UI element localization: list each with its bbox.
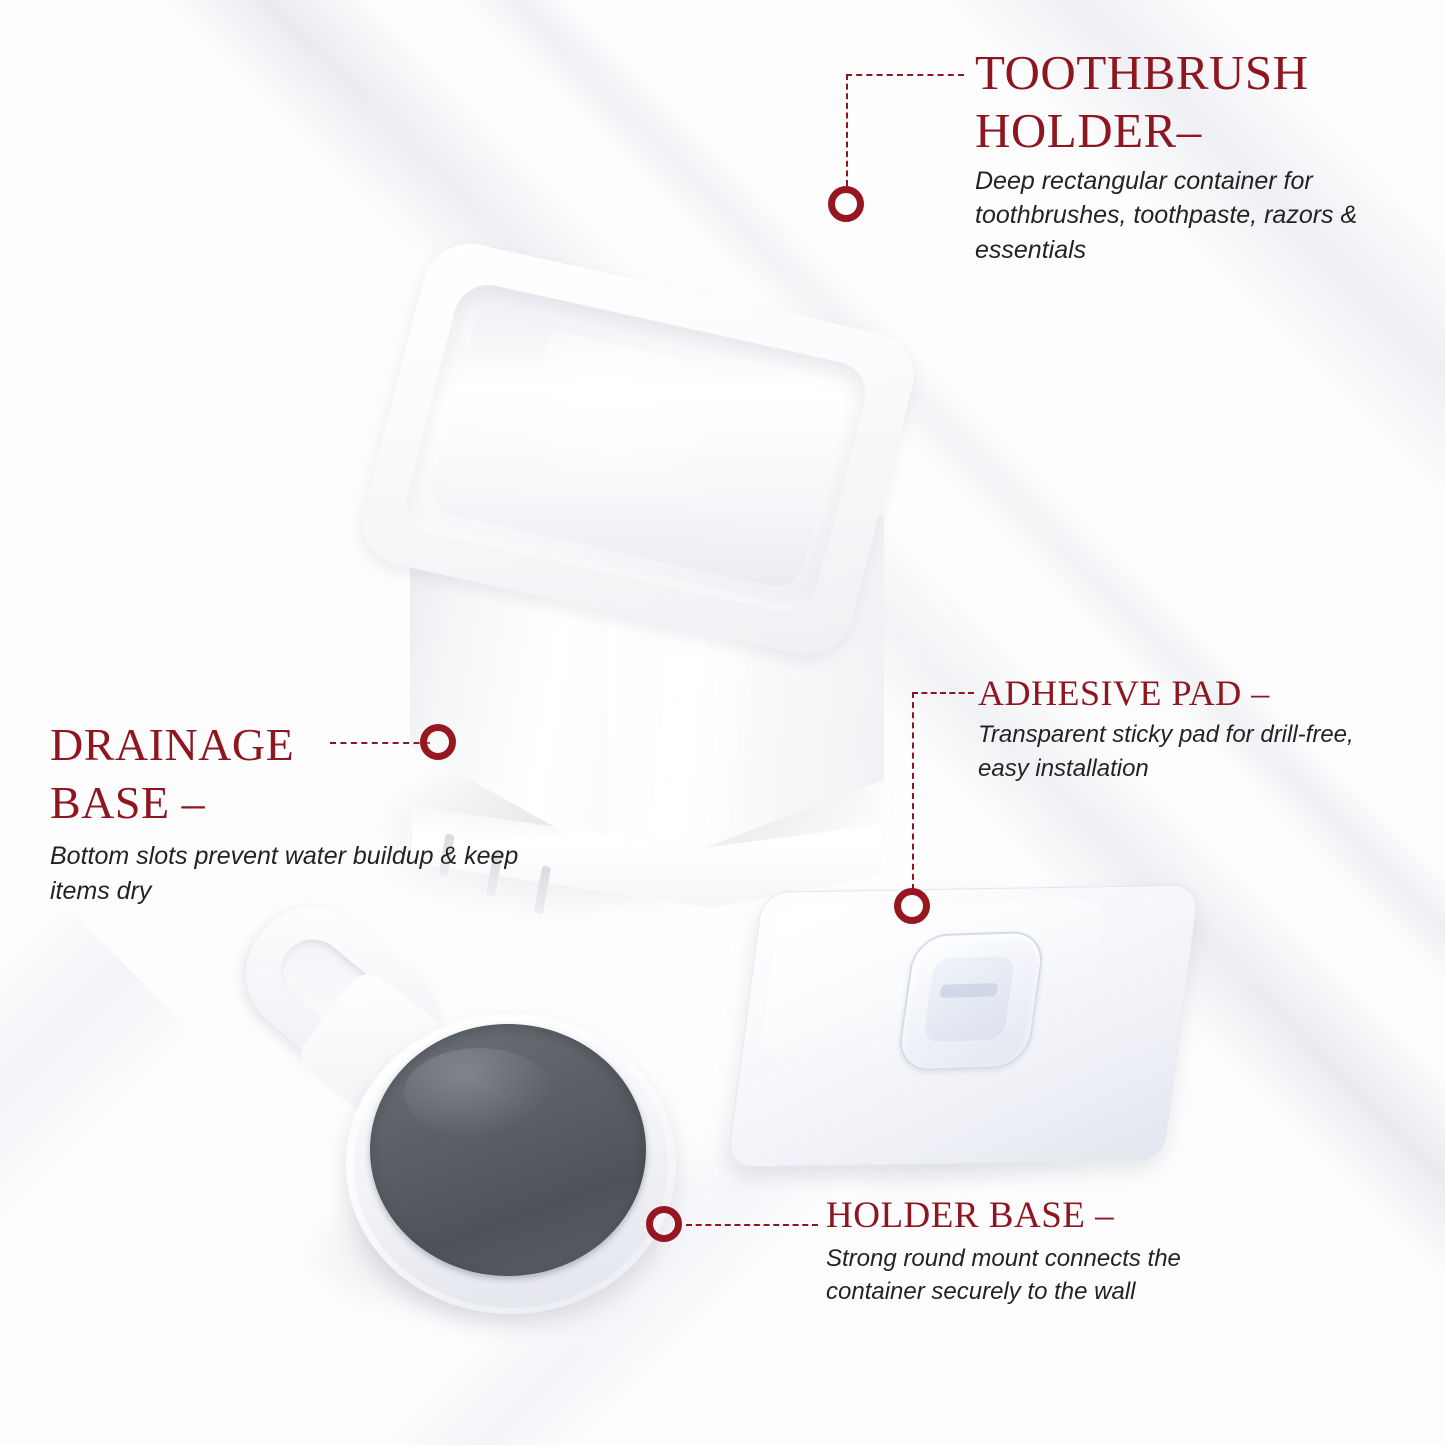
callout-body: Strong round mount connects the containe… bbox=[826, 1242, 1246, 1308]
callout-title: DRAINAGE BASE – bbox=[50, 716, 520, 831]
leader-segment-horizontal bbox=[846, 74, 964, 76]
ring-marker-icon[interactable] bbox=[828, 186, 864, 222]
adhesive-pad-clip-inner bbox=[923, 956, 1015, 1042]
leader-segment-vertical bbox=[912, 692, 914, 890]
callout-body: Transparent sticky pad for drill-free, e… bbox=[978, 718, 1398, 784]
holder-base-pad-highlight bbox=[404, 1048, 554, 1138]
callout-title: ADHESIVE PAD – bbox=[978, 672, 1408, 714]
callout-title: TOOTHBRUSH HOLDER– bbox=[975, 44, 1405, 160]
callout-holder-base: HOLDER BASE – Strong round mount connect… bbox=[826, 1194, 1256, 1308]
leader-segment-horizontal bbox=[912, 692, 974, 694]
callout-body: Bottom slots prevent water buildup & kee… bbox=[50, 839, 520, 908]
callout-adhesive-pad: ADHESIVE PAD – Transparent sticky pad fo… bbox=[978, 672, 1408, 785]
product-image-adhesive-pad bbox=[728, 884, 1198, 1194]
ring-marker-icon[interactable] bbox=[646, 1206, 682, 1242]
callout-toothbrush-holder: TOOTHBRUSH HOLDER– Deep rectangular cont… bbox=[975, 44, 1405, 267]
infographic-canvas: TOOTHBRUSH HOLDER– Deep rectangular cont… bbox=[0, 0, 1445, 1445]
leader-segment-horizontal bbox=[686, 1224, 818, 1226]
callout-body: Deep rectangular container for toothbrus… bbox=[975, 164, 1395, 268]
ring-marker-icon[interactable] bbox=[894, 888, 930, 924]
leader-segment-vertical bbox=[846, 74, 848, 186]
product-image-round-holder-base bbox=[236, 930, 726, 1330]
callout-drainage-base: DRAINAGE BASE – Bottom slots prevent wat… bbox=[50, 716, 520, 908]
adhesive-pad-clip-bar bbox=[940, 983, 999, 998]
callout-title: HOLDER BASE – bbox=[826, 1194, 1256, 1238]
